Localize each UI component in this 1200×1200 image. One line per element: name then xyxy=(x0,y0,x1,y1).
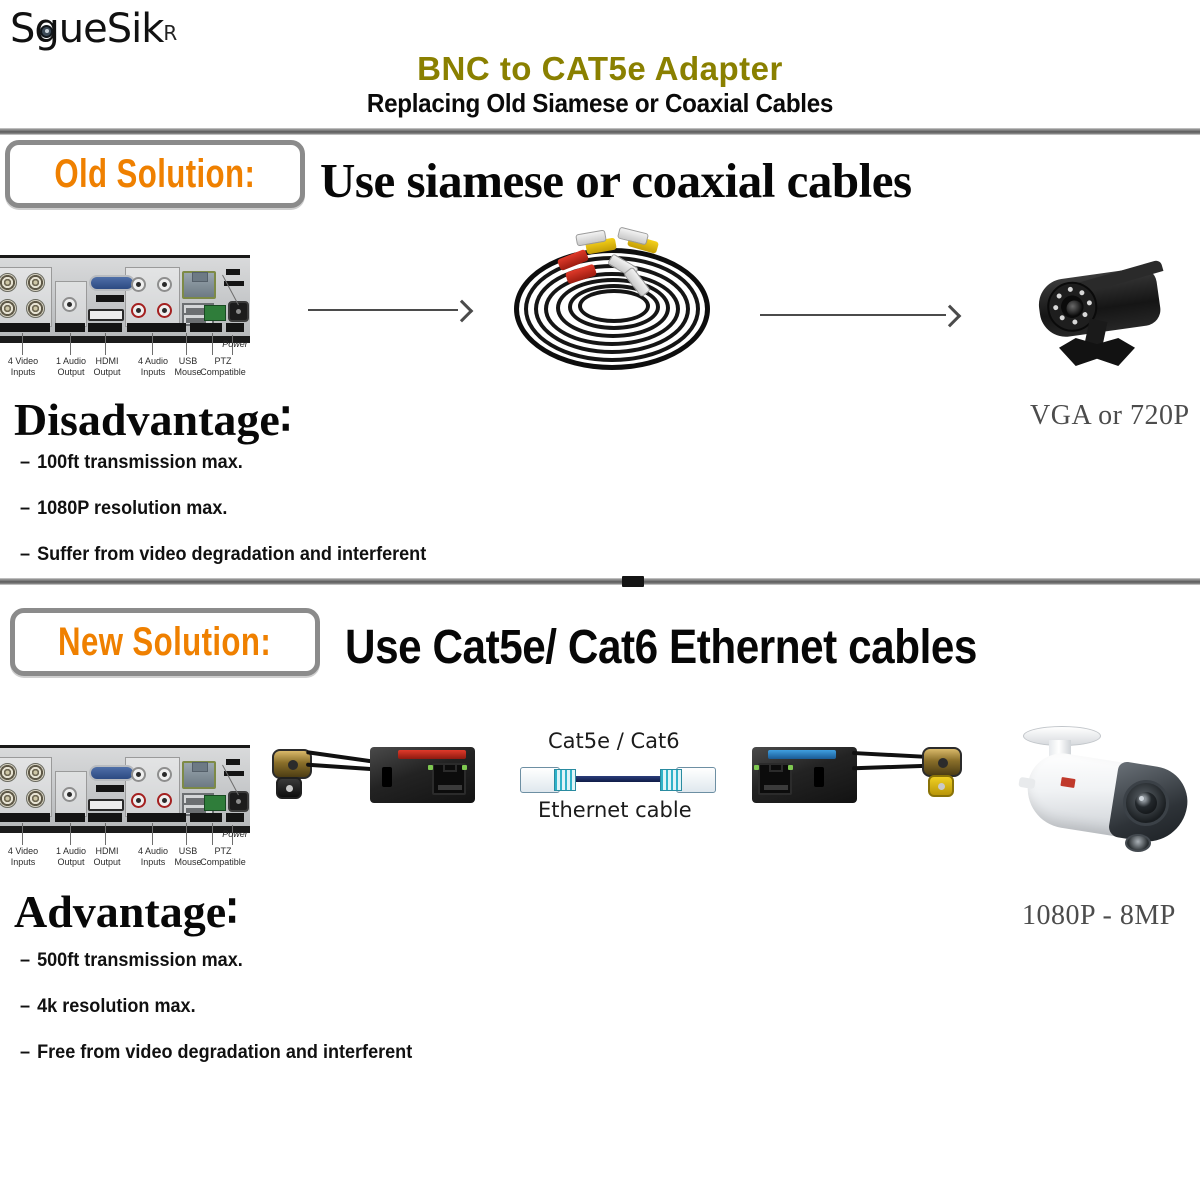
balun-pigtail-wire xyxy=(306,750,376,764)
disadvantage-list: –100ft transmission max. –1080P resoluti… xyxy=(20,452,448,590)
page-subtitle: Replacing Old Siamese or Coaxial Cables xyxy=(42,88,1158,119)
rca-audio-input xyxy=(157,277,172,292)
port-label-strip xyxy=(88,323,122,332)
port-label-strip xyxy=(170,813,186,822)
leader-line xyxy=(152,333,153,355)
balun-receiver xyxy=(752,735,967,830)
dvr-label: 4 Video Inputs xyxy=(0,846,46,868)
port-label-strip xyxy=(204,813,222,822)
camera-side-fin xyxy=(1018,777,1035,789)
port-label-strip xyxy=(170,323,186,332)
rca-audio-input xyxy=(157,303,172,318)
headline-old-solution: Use siamese or coaxial cables xyxy=(320,152,912,209)
list-item: –4k resolution max. xyxy=(20,996,412,1018)
port-label-strip xyxy=(226,323,244,332)
port-label-strip xyxy=(226,813,244,822)
brand-name: SgueSik xyxy=(10,6,163,52)
coaxial-cable-coil xyxy=(510,232,720,382)
vga-port xyxy=(89,275,135,291)
leader-line xyxy=(105,823,106,845)
dvr-label: PTZ Compatible xyxy=(196,356,250,378)
rj45-socket xyxy=(758,763,792,795)
rca-audio-output xyxy=(62,297,77,312)
rj45-grip xyxy=(660,769,682,791)
camera-ir-led xyxy=(1125,834,1151,852)
leader-line xyxy=(70,333,71,355)
balun-transmitter xyxy=(270,735,485,830)
advantage-list: –500ft transmission max. –4k resolution … xyxy=(20,950,433,1088)
balun-pigtail-wire xyxy=(306,763,376,772)
rj45-boot xyxy=(676,767,716,793)
dvr-back-panel-new: 4 Video Inputs 1 Audio Output HDMI Outpu… xyxy=(0,745,250,875)
dvr-label: HDMI Output xyxy=(86,356,128,378)
leader-line xyxy=(22,823,23,845)
balun-housing xyxy=(752,747,857,803)
list-item: –100ft transmission max. xyxy=(20,452,426,474)
rca-audio-input xyxy=(131,277,146,292)
leader-line xyxy=(22,333,23,355)
advantage-title: Advantage∶ xyxy=(14,884,238,938)
badge-new-solution: New Solution: xyxy=(10,608,320,676)
bnc-port xyxy=(26,763,45,782)
bnc-connector xyxy=(922,747,962,777)
ethernet-rj45-port xyxy=(182,761,216,789)
caption-old-camera-resolution: VGA or 720P xyxy=(1030,400,1190,432)
leader-line xyxy=(70,823,71,845)
brand-registered-mark: R xyxy=(163,21,177,45)
port-label-strip xyxy=(0,323,50,332)
dvr-label: 4 Video Inputs xyxy=(0,356,46,378)
rj45-socket xyxy=(432,763,466,795)
leader-line xyxy=(152,823,153,845)
port-label-strip xyxy=(88,813,122,822)
group-audio-inputs xyxy=(125,267,180,327)
list-item: –Suffer from video degradation and inter… xyxy=(20,544,426,566)
dvr-label: Power xyxy=(218,829,252,840)
port-label-strip xyxy=(96,295,124,302)
leader-line xyxy=(212,823,213,845)
rj45-grip xyxy=(554,769,576,791)
balun-slot xyxy=(382,767,392,787)
list-item: –1080P resolution max. xyxy=(20,498,426,520)
leader-line xyxy=(186,823,187,845)
port-label-strip xyxy=(226,269,240,275)
rca-audio-input xyxy=(131,303,146,318)
divider-center-marker xyxy=(622,576,644,587)
leader-line xyxy=(186,333,187,355)
rca-audio-input xyxy=(157,793,172,808)
balun-color-strip xyxy=(398,750,466,759)
ethernet-rj45-port xyxy=(182,271,216,299)
bnc-port xyxy=(26,299,45,318)
port-label-strip xyxy=(204,323,222,332)
dvr-back-panel-old: 4 Video Inputs 1 Audio Output HDMI Outpu… xyxy=(0,255,250,385)
balun-slot xyxy=(814,767,824,787)
port-label-strip xyxy=(0,813,50,822)
divider-middle xyxy=(0,578,1200,585)
rca-audio-output xyxy=(62,787,77,802)
rca-audio-input xyxy=(131,767,146,782)
rca-audio-input xyxy=(157,767,172,782)
caption-cable-type: Cat5e / Cat6 xyxy=(548,729,680,753)
flow-arrow xyxy=(760,308,960,322)
page-title: BNC to CAT5e Adapter xyxy=(0,50,1200,88)
dvr-label: PTZ Compatible xyxy=(196,846,250,868)
caption-cable-name: Ethernet cable xyxy=(538,798,692,822)
dc-power-connector xyxy=(928,775,954,797)
balun-pigtail-wire xyxy=(852,764,930,771)
badge-old-solution-label: Old Solution: xyxy=(55,152,256,197)
port-label-strip xyxy=(55,813,85,822)
headline-new-solution: Use Cat5e/ Cat6 Ethernet cables xyxy=(345,620,977,675)
infographic-page: SgueSikR BNC to CAT5e Adapter Replacing … xyxy=(0,0,1200,1200)
leader-line xyxy=(105,333,106,355)
disadvantage-title: Disadvantage∶ xyxy=(14,392,292,446)
vga-port xyxy=(89,765,135,781)
group-audio-inputs xyxy=(125,757,180,817)
balun-pigtail-wire xyxy=(852,751,930,759)
bnc-port xyxy=(26,273,45,292)
ethernet-patch-cable xyxy=(520,762,716,802)
badge-old-solution: Old Solution: xyxy=(5,140,305,208)
camera-lens-icon xyxy=(1135,792,1157,814)
caption-new-camera-resolution: 1080P - 8MP xyxy=(1022,900,1176,932)
hd-bullet-camera xyxy=(1005,722,1200,872)
dvr-label: HDMI Output xyxy=(86,846,128,868)
hdmi-port xyxy=(88,309,124,321)
divider-top xyxy=(0,128,1200,135)
list-item: –Free from video degradation and interfe… xyxy=(20,1042,412,1064)
ptz-terminal-block xyxy=(204,795,226,811)
balun-color-strip xyxy=(768,750,836,759)
balun-housing xyxy=(370,747,475,803)
badge-new-solution-label: New Solution: xyxy=(58,620,271,665)
flow-arrow xyxy=(308,303,472,317)
brand-logo: SgueSikR xyxy=(10,6,177,52)
camera-lens-icon xyxy=(1065,299,1083,317)
hdmi-port xyxy=(88,799,124,811)
port-label-strip xyxy=(55,323,85,332)
rca-audio-input xyxy=(131,793,146,808)
bnc-port xyxy=(26,789,45,808)
leader-line xyxy=(212,333,213,355)
port-label-strip xyxy=(96,785,124,792)
port-label-strip xyxy=(226,759,240,765)
analog-bullet-camera xyxy=(1025,268,1185,378)
camera-lens-icon xyxy=(40,25,53,38)
list-item: –500ft transmission max. xyxy=(20,950,412,972)
dc-power-connector xyxy=(276,777,302,799)
dvr-label: Power xyxy=(218,339,252,350)
ptz-terminal-block xyxy=(204,305,226,321)
